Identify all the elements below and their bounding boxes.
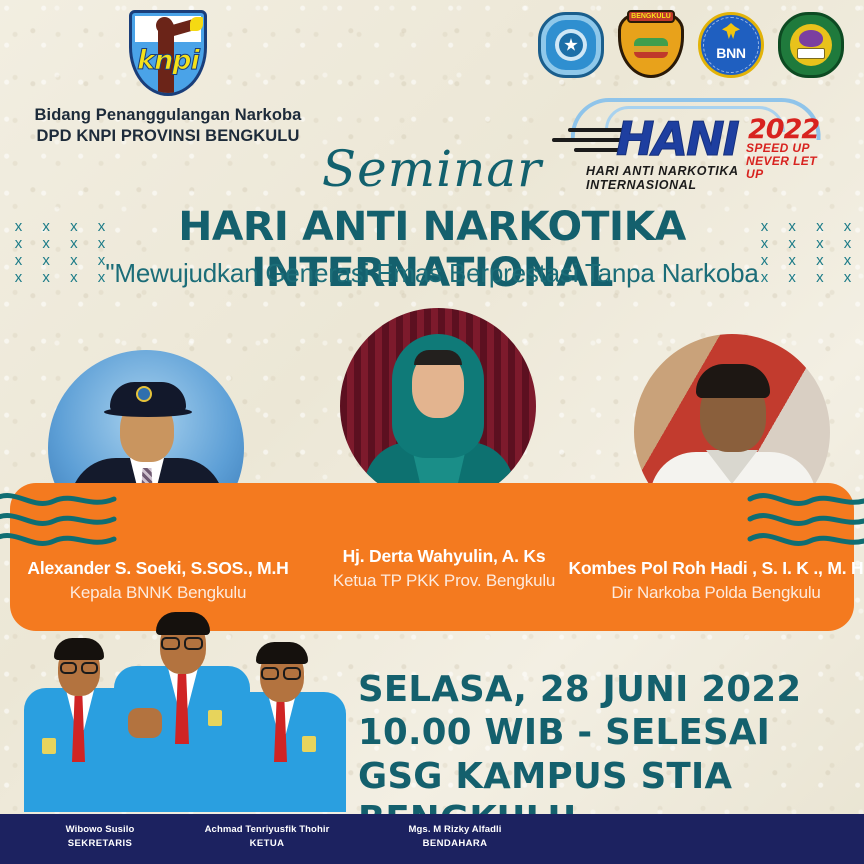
polda-bengkulu-logo: BENGKULU (618, 12, 684, 78)
eyeglasses-icon (161, 637, 180, 650)
speaker-role: Dir Narkoba Polda Bengkulu (566, 583, 864, 603)
speaker-credit-3: Kombes Pol Roh Hadi , S. I. K ., M. H Di… (566, 558, 864, 603)
eyeglasses-icon (184, 637, 203, 650)
knpi-emblem-icon (302, 736, 316, 752)
committee-role: SEKRETARIS (20, 838, 180, 849)
organizer-block: knpi Bidang Penanggulangan Narkoba DPD K… (18, 10, 318, 147)
committee-name: Wibowo Susilo (20, 824, 180, 835)
event-date: SELASA, 28 JUNI 2022 (358, 668, 858, 711)
committee-role: KETUA (172, 838, 362, 849)
hair (54, 638, 104, 660)
committee-credit-3: Mgs. M Rizky Alfadli BENDAHARA (360, 824, 550, 849)
hani-year: 2022 (748, 116, 819, 143)
eyeglasses-icon (261, 667, 279, 680)
speaker-3-hair (696, 364, 770, 398)
speaker-name: Hj. Derta Wahyulin, A. Ks (294, 546, 594, 567)
knpi-emblem-icon (208, 710, 222, 726)
committee-member-2-figure (114, 612, 250, 812)
event-time: 10.00 WIB - SELESAI (358, 711, 858, 754)
speaker-name: Alexander S. Soeki, S.SOS., M.H (8, 558, 308, 579)
speaker-1-cap-badge-icon (136, 386, 152, 402)
knpi-emblem-icon (42, 738, 56, 754)
knpi-logo-wheat-icon (190, 17, 203, 31)
raised-fist-icon (128, 708, 162, 738)
speaker-role: Ketua TP PKK Prov. Bengkulu (294, 571, 594, 591)
poster-canvas: knpi Bidang Penanggulangan Narkoba DPD K… (0, 0, 864, 864)
stia-logo-flame-icon (799, 30, 823, 47)
kicker-seminar: Seminar (0, 140, 864, 198)
eyeglasses-icon (81, 662, 98, 674)
stia-logo-book-icon (797, 48, 825, 59)
speaker-credit-2: Hj. Derta Wahyulin, A. Ks Ketua TP PKK P… (294, 546, 594, 591)
page-subtitle: "Mewujudkan Generasi Emas Berprestasi Ta… (0, 258, 864, 289)
committee-credit-2: Achmad Tenriyusfik Thohir KETUA (172, 824, 362, 849)
eyeglasses-icon (283, 667, 301, 680)
hair (256, 642, 308, 664)
hair (156, 612, 210, 635)
universitas-bengkulu-logo (538, 12, 604, 78)
speaker-role: Kepala BNNK Bengkulu (8, 583, 308, 603)
speaker-photo-derta (340, 308, 536, 504)
speaker-name: Kombes Pol Roh Hadi , S. I. K ., M. H (566, 558, 864, 579)
committee-role: BENDAHARA (360, 838, 550, 849)
wave-decoration-left (4, 491, 124, 553)
knpi-logo-wordmark: knpi (132, 47, 204, 74)
committee-credit-1: Wibowo Susilo SEKRETARIS (20, 824, 180, 849)
stia-bengkulu-logo (778, 12, 844, 78)
committee-footer-bar: Wibowo Susilo SEKRETARIS Achmad Tenriyus… (0, 814, 864, 864)
polda-logo-banner: BENGKULU (627, 10, 675, 23)
organizer-line-1: Bidang Penanggulangan Narkoba (18, 105, 318, 126)
speaker-2-fringe (414, 350, 462, 365)
bnn-logo-wordmark: BNN (698, 45, 764, 61)
polda-logo-emblem (634, 38, 668, 58)
committee-name: Achmad Tenriyusfik Thohir (172, 824, 362, 835)
committee-name: Mgs. M Rizky Alfadli (360, 824, 550, 835)
wave-decoration-right (740, 491, 860, 553)
speaker-credit-1: Alexander S. Soeki, S.SOS., M.H Kepala B… (8, 558, 308, 603)
bnn-logo: BNN (698, 12, 764, 78)
eyeglasses-icon (60, 662, 77, 674)
committee-group-photo (0, 612, 340, 812)
knpi-logo: knpi (129, 10, 207, 96)
institution-logo-row: BENGKULU BNN (538, 12, 844, 78)
